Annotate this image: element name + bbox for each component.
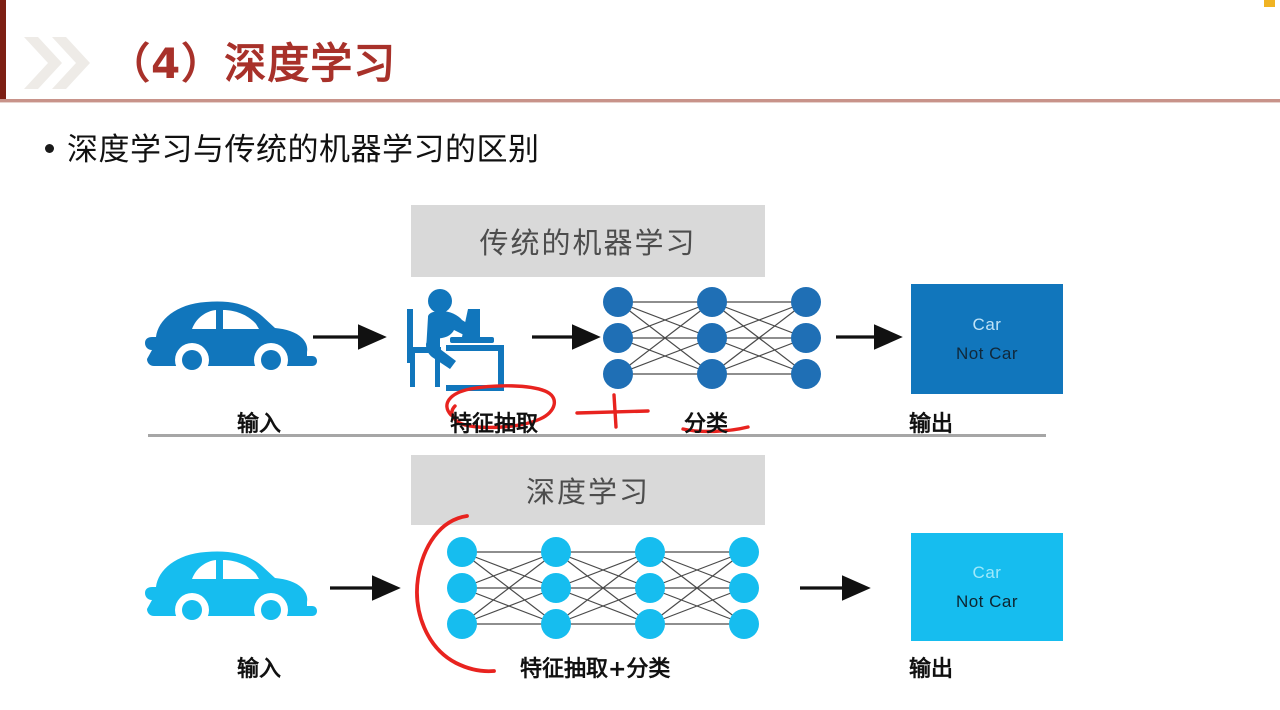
person-at-desk-icon — [407, 289, 504, 391]
page-title: （4）深度学习 — [108, 30, 396, 91]
neural-network-deep — [462, 552, 744, 624]
bullet-row: 深度学习与传统的机器学习的区别 — [45, 124, 540, 169]
output-label-car-traditional: Car — [973, 315, 1002, 335]
neural-network-traditional-nodes — [603, 287, 821, 389]
top-right-accent-mark — [1264, 0, 1275, 7]
traditional-ml-header-box: 传统的机器学习 — [411, 205, 765, 277]
car-icon-traditional — [145, 302, 317, 377]
deep-learning-header-label: 深度学习 — [526, 469, 650, 511]
output-label-car-deep: Car — [973, 563, 1002, 583]
output-box-deep: Car Not Car — [911, 533, 1063, 641]
diagram-graphics-layer — [0, 0, 1280, 710]
output-box-traditional: Car Not Car — [911, 284, 1063, 394]
caption-feature-plus-classify: 特征抽取+分类 — [520, 651, 670, 683]
caption-classification: 分类 — [684, 406, 728, 438]
annotation-plus-vertical — [614, 395, 616, 427]
title-rule-secondary — [0, 102, 1280, 103]
caption-output-deep: 输出 — [909, 651, 953, 683]
car-icon-deep — [145, 552, 317, 627]
traditional-ml-header-label: 传统的机器学习 — [479, 220, 696, 262]
slide: （4）深度学习 深度学习与传统的机器学习的区别 传统的机器学习 深度学习 — [0, 0, 1280, 710]
output-label-notcar-traditional: Not Car — [956, 344, 1018, 364]
neural-network-deep-nodes — [447, 537, 759, 639]
annotation-plus-horizontal — [577, 411, 648, 413]
annotation-brace-deep-network — [417, 516, 494, 671]
caption-feature-extraction: 特征抽取 — [450, 406, 538, 438]
left-accent-bar — [0, 0, 6, 103]
caption-input-traditional: 输入 — [237, 406, 281, 438]
neural-network-traditional — [618, 302, 806, 374]
bullet-dot-icon — [45, 144, 54, 153]
deep-learning-header-box: 深度学习 — [411, 455, 765, 525]
caption-output-traditional: 输出 — [909, 406, 953, 438]
double-chevron-icon — [22, 35, 94, 91]
bullet-text: 深度学习与传统的机器学习的区别 — [67, 124, 540, 169]
caption-input-deep: 输入 — [237, 651, 281, 683]
output-label-notcar-deep: Not Car — [956, 592, 1018, 612]
